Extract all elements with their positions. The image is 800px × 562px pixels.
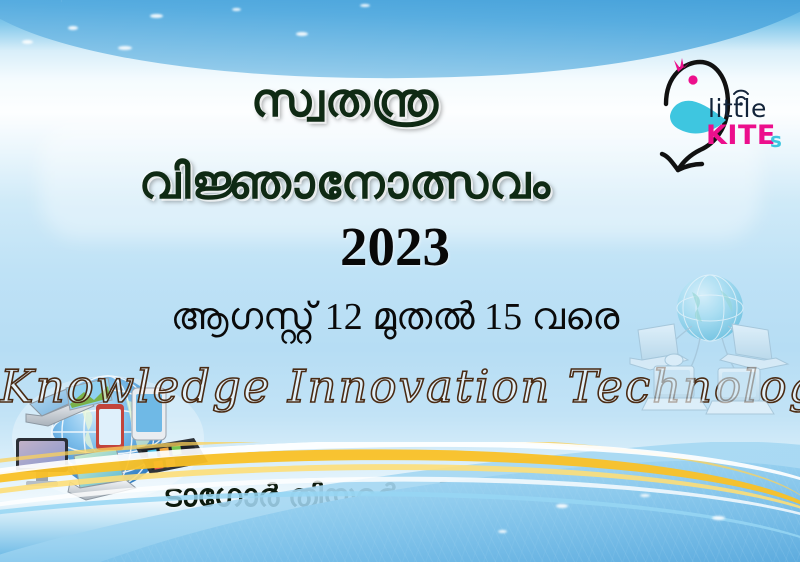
mouse-icon: [665, 354, 683, 366]
little-kites-logo[interactable]: little KITE s: [648, 58, 796, 180]
laptop-right-lower: [706, 368, 774, 414]
page-title-line-1: സ്വതന്ത്ര: [0, 71, 690, 129]
sparkle-6: [118, 46, 132, 50]
bottom-sparkle-3: [712, 516, 725, 520]
bottom-sparkle-1: [556, 504, 568, 508]
network-svg: [612, 268, 794, 440]
logo-text-little: little: [708, 94, 767, 123]
sparkle-7: [22, 40, 33, 44]
poster-canvas: സ്വതന്ത്ര വിജ്ഞാനോത്സവം 2023 ആഗസ്റ്റ് 12…: [0, 0, 800, 562]
logo-text-kite: KITE: [706, 120, 776, 151]
bottom-sparkle-4: [498, 530, 507, 533]
logo-text-s: s: [770, 128, 782, 152]
sparkle-2: [150, 14, 163, 18]
globe-network-image: [612, 268, 794, 440]
sparkle-1: [68, 26, 78, 30]
bottom-sparkle-2: [640, 494, 650, 497]
bottom-swoosh-band: [0, 442, 800, 562]
sparkle-3: [232, 8, 241, 11]
page-title-line-2: വിജ്ഞാനോത്സവം: [0, 153, 690, 211]
laptop-left-lower: [642, 366, 708, 410]
sparkle-4: [296, 32, 308, 36]
sparkle-5: [360, 4, 370, 7]
